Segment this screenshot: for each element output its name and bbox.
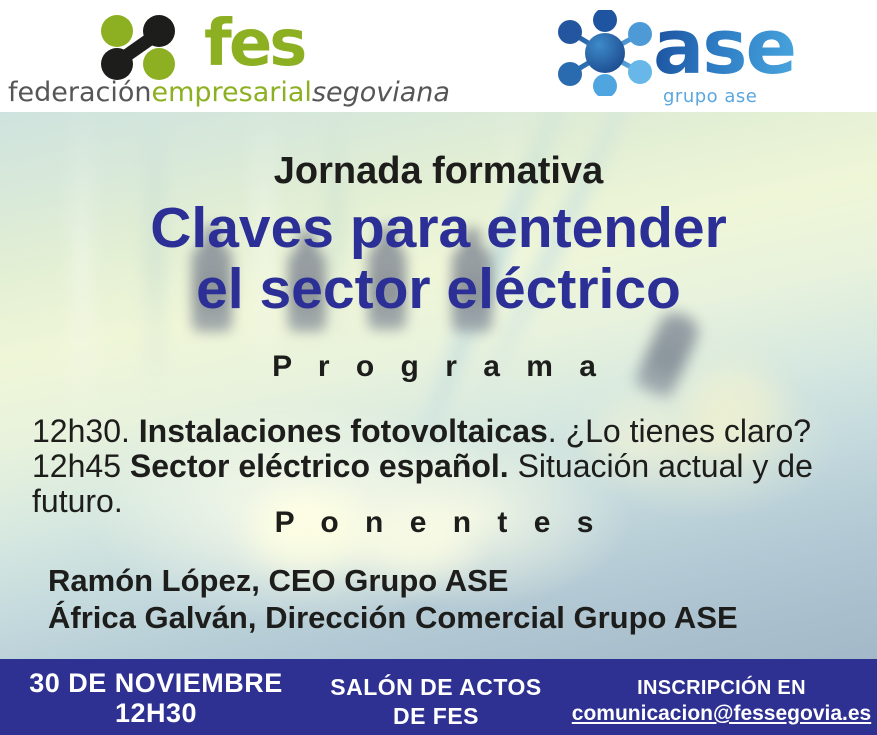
- fes-chain-icon: [93, 14, 211, 80]
- footer-date-line-1: 30 DE NOVIEMBRE: [6, 668, 306, 698]
- registration-email-link[interactable]: comunicacion@fessegovia.es: [566, 701, 877, 727]
- fes-tagline: federaciónempresarialsegoviana: [8, 78, 450, 108]
- ponentes-heading: P o n e n t e s: [0, 506, 877, 540]
- footer-registration-label: INSCRIPCIÓN EN: [566, 675, 877, 701]
- footer-date-line-2: 12H30: [6, 698, 306, 728]
- footer-band: 30 DE NOVIEMBRE 12H30 SALÓN DE ACTOS DE …: [0, 659, 877, 735]
- agenda-time: 12h30.: [32, 413, 130, 449]
- speaker-item: África Galván, Dirección Comercial Grupo…: [48, 599, 868, 636]
- footer-venue-block: SALÓN DE ACTOS DE FES: [306, 673, 566, 731]
- event-kicker: Jornada formativa: [0, 150, 877, 193]
- logo-header-band: fes federaciónempresarialsegoviana: [0, 0, 877, 112]
- title-line-1: Claves para entender: [150, 196, 727, 260]
- agenda-time: 12h45: [32, 448, 121, 484]
- fes-wordmark: fes: [204, 12, 304, 76]
- speaker-list: Ramón López, CEO Grupo ASE África Galván…: [48, 562, 868, 636]
- agenda-topic: Instalaciones fotovoltaicas: [139, 413, 548, 449]
- ase-logo: ase grupo ase: [545, 8, 855, 108]
- fes-tagline-part2: empresarial: [152, 77, 312, 108]
- title-line-2: el sector eléctrico: [0, 261, 877, 318]
- footer-registration-block: INSCRIPCIÓN EN comunicacion@fessegovia.e…: [566, 675, 877, 727]
- agenda-topic: Sector eléctrico español.: [130, 448, 509, 484]
- fes-tagline-part3: segoviana: [312, 77, 450, 108]
- poster-content: Jornada formativa Claves para entender e…: [0, 112, 877, 659]
- ase-wordmark: ase: [653, 4, 795, 90]
- footer-venue-line-2: DE FES: [306, 702, 566, 731]
- ase-molecule-icon: [545, 10, 665, 96]
- programa-heading: P r o g r a m a: [0, 350, 877, 384]
- footer-venue-line-1: SALÓN DE ACTOS: [306, 673, 566, 702]
- ase-subtitle: grupo ase: [663, 86, 757, 107]
- event-poster: fes federaciónempresarialsegoviana: [0, 0, 877, 735]
- speaker-item: Ramón López, CEO Grupo ASE: [48, 562, 868, 599]
- agenda-detail: . ¿Lo tienes claro?: [548, 413, 811, 449]
- footer-date-block: 30 DE NOVIEMBRE 12H30: [6, 668, 306, 728]
- fes-tagline-part1: federación: [8, 77, 152, 108]
- page-title: Claves para entender el sector eléctrico: [0, 200, 877, 318]
- agenda-item: 12h30. Instalaciones fotovoltaicas. ¿Lo …: [32, 414, 852, 449]
- fes-logo: fes federaciónempresarialsegoviana: [8, 6, 368, 106]
- agenda-list: 12h30. Instalaciones fotovoltaicas. ¿Lo …: [32, 414, 852, 519]
